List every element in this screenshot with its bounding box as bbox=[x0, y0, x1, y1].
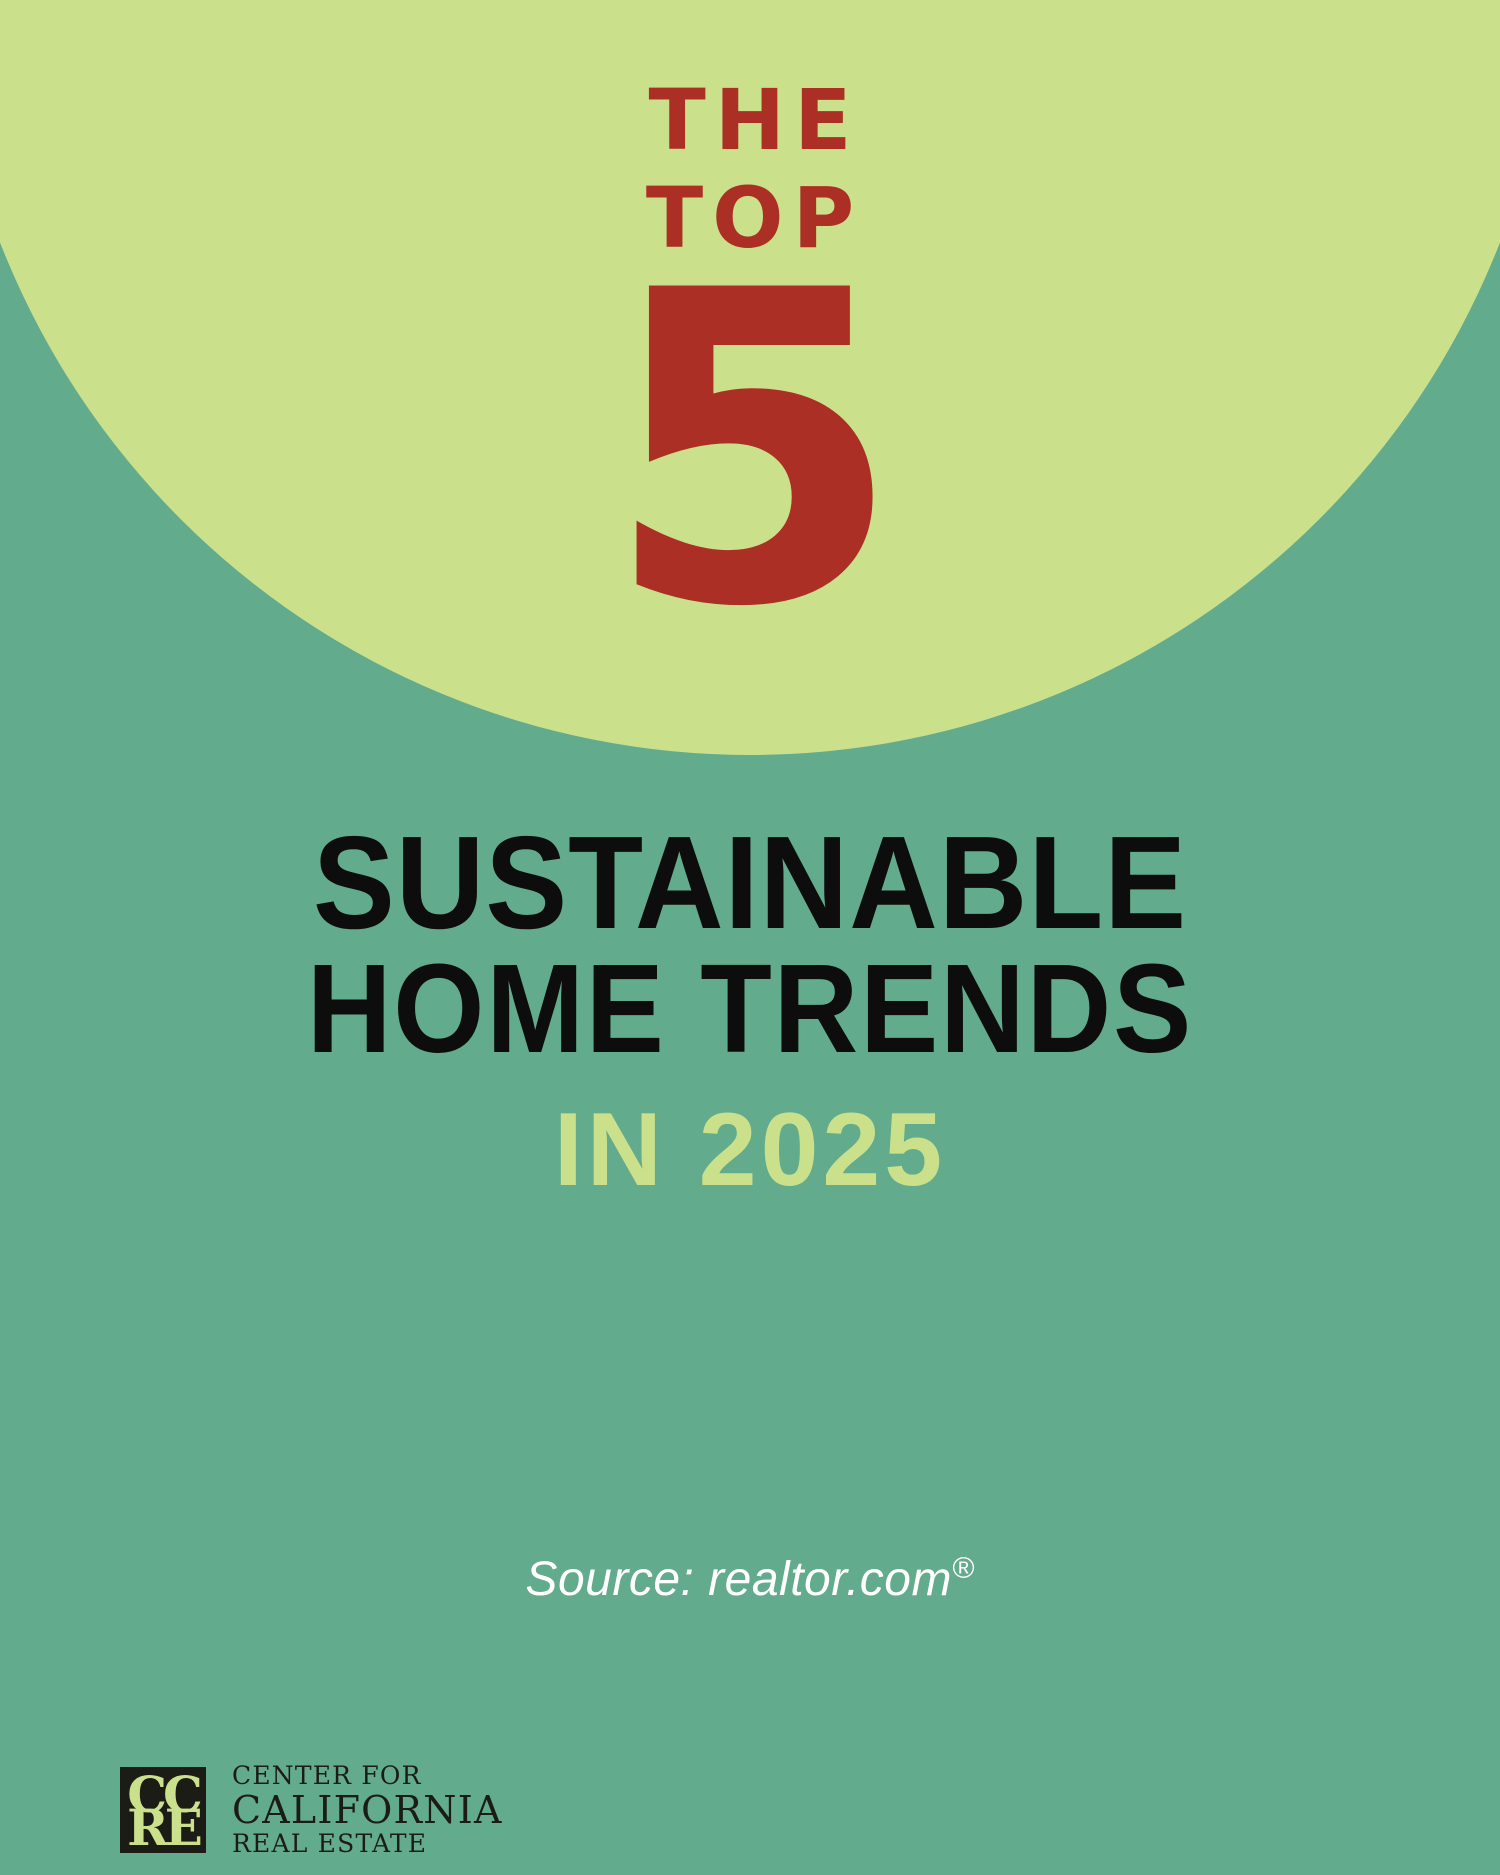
registered-trademark-icon: ® bbox=[952, 1552, 975, 1585]
headline-line-sustainable: SUSTAINABLE bbox=[53, 820, 1448, 946]
logo-mark-row-re: RE bbox=[120, 1803, 206, 1853]
headline-subline-year: IN 2025 bbox=[0, 1098, 1500, 1202]
wordmark-real-estate: REAL ESTATE bbox=[232, 1830, 503, 1858]
headline-line-home-trends: HOME TRENDS bbox=[53, 946, 1448, 1072]
ccre-logo-mark: CC RE bbox=[120, 1767, 206, 1853]
poster-canvas: THE TOP 5 SUSTAINABLE HOME TRENDS IN 202… bbox=[0, 0, 1500, 1875]
wordmark-center-for: CENTER FOR bbox=[232, 1762, 503, 1790]
big-number-five: 5 bbox=[0, 236, 1500, 666]
ccre-wordmark: CENTER FOR CALIFORNIA REAL ESTATE bbox=[232, 1762, 503, 1858]
kicker-line-the: THE bbox=[0, 78, 1500, 162]
source-text: Source: realtor.com bbox=[525, 1553, 952, 1606]
source-attribution: Source: realtor.com® bbox=[0, 1551, 1500, 1609]
ccre-logo-lockup[interactable]: CC RE CENTER FOR CALIFORNIA REAL ESTATE bbox=[120, 1762, 503, 1858]
wordmark-california: CALIFORNIA bbox=[232, 1790, 503, 1830]
headline-block: SUSTAINABLE HOME TRENDS IN 2025 bbox=[0, 820, 1500, 1202]
